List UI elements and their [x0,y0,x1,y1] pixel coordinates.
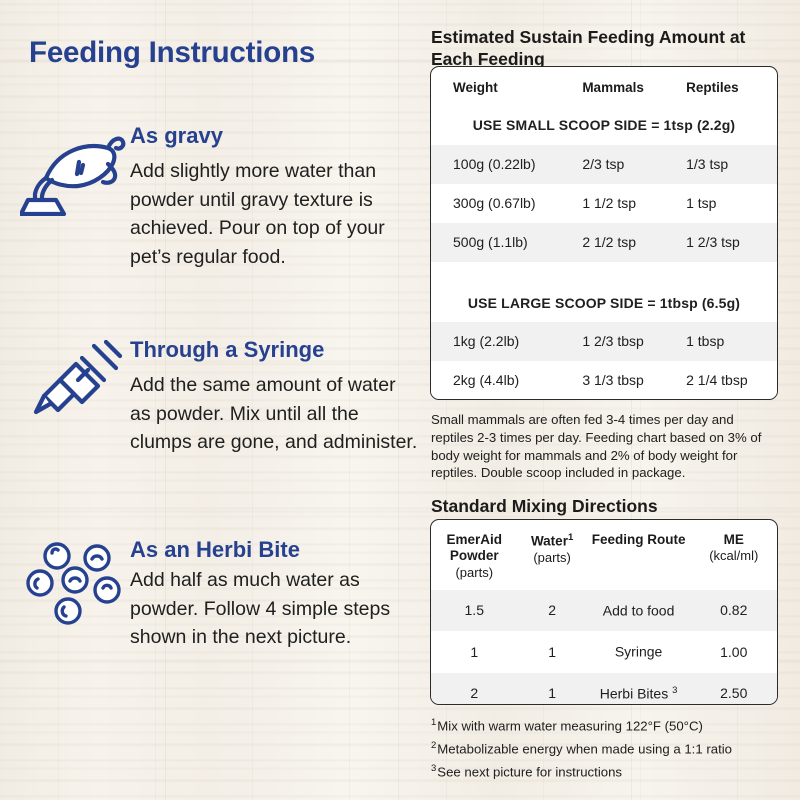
cell-powder: 1 [431,631,518,672]
route-label: Syringe [615,644,662,660]
group-spacer [431,262,777,284]
column-header-water: Water1 (parts) [518,520,587,590]
method-title: Through a Syringe [130,338,420,362]
cell-weight: 2kg (4.4lb) [431,361,576,400]
cell-reptiles: 1 2/3 tsp [680,223,777,262]
table-row: 2 1 Herbi Bites 3 2.50 [431,673,777,705]
table-header-row: EmerAid Powder (parts) Water1 (parts) Fe… [431,520,777,590]
table-row: 1kg (2.2lb) 1 2/3 tbsp 1 tbsp [431,322,777,361]
footnote-text: Metabolizable energy when made using a 1… [437,741,732,756]
table-row: 2kg (4.4lb) 3 1/3 tbsp 2 1/4 tbsp [431,361,777,400]
cell-mammals: 1 2/3 tbsp [576,322,680,361]
column-header-me: ME (kcal/ml) [690,520,777,590]
cell-weight: 300g (0.67lb) [431,184,576,223]
cell-reptiles: 1 tbsp [680,322,777,361]
table-row: 500g (1.1lb) 2 1/2 tsp 1 2/3 tsp [431,223,777,262]
feeding-instructions-page: Feeding Instructions As gravy Add slight… [0,0,800,800]
header-main: EmerAid Powder [446,532,502,563]
cell-route: Herbi Bites 3 [587,673,691,705]
table-row: 1.5 2 Add to food 0.82 [431,590,777,631]
cell-water: 1 [518,673,587,705]
table-body: USE SMALL SCOOP SIDE = 1tsp (2.2g) 100g … [431,106,777,400]
method-as-an-herbi-bite: As an Herbi Bite Add half as much water … [20,538,420,652]
table-row: 1 1 Syringe 1.00 [431,631,777,672]
table-header-row: Weight Mammals Reptiles [431,67,777,106]
scoop-group-label-row: USE SMALL SCOOP SIDE = 1tsp (2.2g) [431,106,777,145]
cell-me: 2.50 [690,673,777,705]
cell-me: 0.82 [690,590,777,631]
cell-route: Syringe [587,631,691,672]
footnote-marker: 3 [672,685,677,696]
cell-reptiles: 2 1/4 tbsp [680,361,777,400]
cell-water: 2 [518,590,587,631]
column-header-weight: Weight [431,67,576,106]
left-column: Feeding Instructions As gravy Add slight… [0,0,420,800]
header-sub: (kcal/ml) [692,548,775,564]
table-header: EmerAid Powder (parts) Water1 (parts) Fe… [431,520,777,590]
cell-powder: 2 [431,673,518,705]
large-scoop-label: USE LARGE SCOOP SIDE = 1tbsp (6.5g) [431,284,777,323]
footnote-marker: 2 [431,740,436,751]
method-through-a-syringe: Through a Syringe Add the same amount of… [20,338,420,457]
footnote-item: 2Metabolizable energy when made using a … [431,738,783,761]
cell-weight: 100g (0.22lb) [431,145,576,184]
cell-reptiles: 1/3 tsp [680,145,777,184]
cell-reptiles: 1 tsp [680,184,777,223]
cell-mammals: 2/3 tsp [576,145,680,184]
route-label: Herbi Bites [600,685,668,701]
footnotes-list: 1Mix with warm water measuring 122°F (50… [431,715,783,784]
scoop-group-label-row: USE LARGE SCOOP SIDE = 1tbsp (6.5g) [431,284,777,323]
cell-me: 1.00 [690,631,777,672]
route-label: Add to food [603,602,675,618]
cell-weight: 1kg (2.2lb) [431,322,576,361]
header-main: Water [531,534,568,549]
header-main: Feeding Route [592,532,686,547]
method-title: As an Herbi Bite [130,538,420,562]
footnote-text: Mix with warm water measuring 122°F (50°… [437,718,703,733]
footnote-marker: 1 [431,717,436,728]
standard-mixing-table: EmerAid Powder (parts) Water1 (parts) Fe… [431,520,777,705]
cell-mammals: 3 1/3 tbsp [576,361,680,400]
footnote-item: 1Mix with warm water measuring 122°F (50… [431,715,783,738]
method-as-gravy: As gravy Add slightly more water than po… [20,124,420,271]
table-row: 100g (0.22lb) 2/3 tsp 1/3 tsp [431,145,777,184]
cell-water: 1 [518,631,587,672]
sustain-table-heading: Estimated Sustain Feeding Amount at Each… [431,27,783,70]
sustain-table-note: Small mammals are often fed 3-4 times pe… [431,411,776,482]
method-title: As gravy [130,124,420,148]
cell-mammals: 1 1/2 tsp [576,184,680,223]
cell-mammals: 2 1/2 tsp [576,223,680,262]
method-text: Add slightly more water than powder unti… [130,157,420,271]
table-body: 1.5 2 Add to food 0.82 1 1 Syringe 1.00 … [431,590,777,705]
footnote-marker: 1 [568,532,573,543]
right-column: Estimated Sustain Feeding Amount at Each… [420,0,800,800]
small-scoop-label: USE SMALL SCOOP SIDE = 1tsp (2.2g) [431,106,777,145]
header-sub: (parts) [520,550,585,566]
sustain-feeding-table-card: Weight Mammals Reptiles USE SMALL SCOOP … [430,66,778,400]
method-body: As gravy Add slightly more water than po… [130,124,420,271]
method-text: Add the same amount of water as powder. … [130,371,420,456]
footnote-text: See next picture for instructions [437,765,622,780]
table-row: 300g (0.67lb) 1 1/2 tsp 1 tsp [431,184,777,223]
header-main: ME [724,532,744,547]
method-text: Add half as much water as powder. Follow… [130,566,420,651]
standard-mixing-table-card: EmerAid Powder (parts) Water1 (parts) Fe… [430,519,778,705]
mixing-table-heading: Standard Mixing Directions [431,496,783,518]
syringe-icon [20,338,128,430]
footnote-item: 3See next picture for instructions [431,761,783,784]
cell-route: Add to food [587,590,691,631]
gravy-boat-icon [20,124,128,216]
method-body: As an Herbi Bite Add half as much water … [130,538,420,652]
cell-weight: 500g (1.1lb) [431,223,576,262]
page-title: Feeding Instructions [29,36,315,70]
herbi-bites-icon [20,538,128,630]
table-header: Weight Mammals Reptiles [431,67,777,106]
sustain-feeding-table: Weight Mammals Reptiles USE SMALL SCOOP … [431,67,777,400]
column-header-feeding-route: Feeding Route [587,520,691,590]
method-body: Through a Syringe Add the same amount of… [130,338,420,457]
header-sub: (parts) [433,565,516,581]
column-header-reptiles: Reptiles [680,67,777,106]
column-header-emeraid-powder: EmerAid Powder (parts) [431,520,518,590]
column-header-mammals: Mammals [576,67,680,106]
footnote-marker: 3 [431,763,436,774]
spacer [431,262,777,284]
cell-powder: 1.5 [431,590,518,631]
